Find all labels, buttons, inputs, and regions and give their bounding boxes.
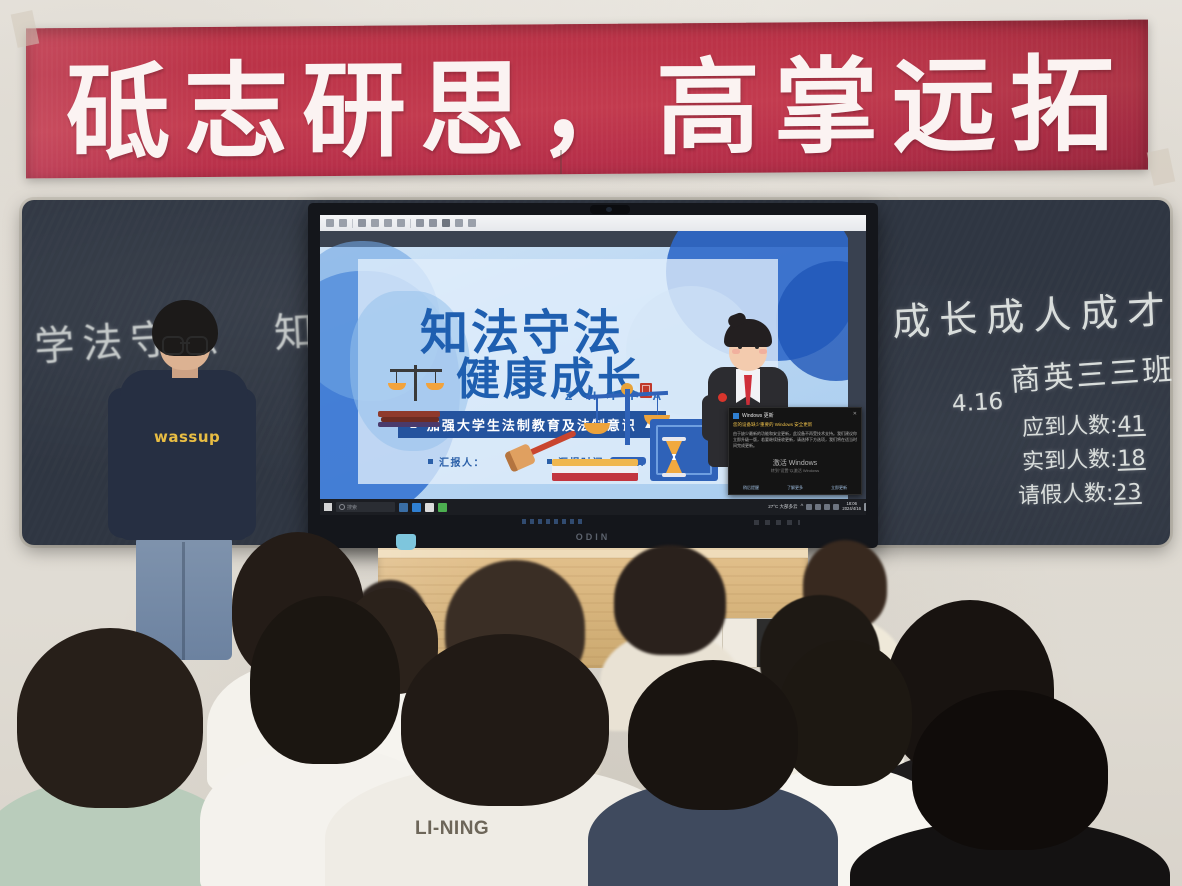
- layout-icon[interactable]: [429, 219, 437, 227]
- blackboard-attendance-leave: 请假人数:23: [1017, 474, 1141, 510]
- close-icon[interactable]: ✕: [853, 411, 857, 417]
- slide-footer-presenter: 汇报人：: [428, 454, 485, 469]
- task-view-icon[interactable]: [399, 503, 408, 512]
- student-front-4-head: [628, 660, 798, 810]
- attendance-actual-label: 实到人数:: [1022, 447, 1118, 475]
- windows-activate-text: 激活 Windows 转到"设置"以激活 Windows: [729, 458, 861, 474]
- lawyer-cheek-left: [732, 349, 740, 354]
- fit-icon[interactable]: [397, 219, 405, 227]
- cup-icon: [396, 534, 416, 550]
- display-camera-icon: [590, 205, 630, 214]
- windows-notification-header: Windows 更新: [733, 412, 857, 419]
- bullet-icon: [428, 459, 433, 464]
- blackboard-attendance-expected: 应到人数:41: [1021, 406, 1145, 442]
- windows-notification-buttons[interactable]: 稍后提醒 了解更多 立即更新: [729, 485, 861, 491]
- law-book-bottom: [552, 473, 638, 481]
- presentation-slide[interactable]: 知法守法 健康成长 Z H I F A ▲ 加强大学生法制教育及法制意识 ▲ 汇…: [320, 231, 866, 499]
- hourglass-sand: [666, 441, 682, 473]
- windows-notification-highlight: 您的设备缺少重要的 Windows 安全更新: [733, 422, 857, 429]
- wall-display[interactable]: 知法守法 健康成长 Z H I F A ▲ 加强大学生法制教育及法制意识 ▲ 汇…: [308, 203, 878, 548]
- lawyer-cheek-right: [759, 349, 767, 354]
- blackboard-date: 4.16: [951, 389, 1004, 418]
- lawyer-badge-icon: [718, 393, 727, 402]
- folder-icon[interactable]: [425, 503, 434, 512]
- learn-more-button[interactable]: 了解更多: [787, 485, 803, 491]
- presentation-toolbar[interactable]: [320, 215, 866, 231]
- law-book-mid: [552, 466, 638, 473]
- network-icon[interactable]: [806, 504, 812, 510]
- hourglass-icon: [662, 437, 686, 477]
- forward-icon[interactable]: [339, 219, 347, 227]
- close-icon[interactable]: [455, 219, 463, 227]
- windows-activate-sub: 转到"设置"以激活 Windows: [729, 468, 861, 474]
- law-books-icon: [378, 411, 440, 427]
- large-scales-pan-left: [584, 423, 610, 434]
- lawyer-hair: [724, 319, 772, 347]
- slide-footer-presenter-label: 汇报人：: [439, 454, 485, 469]
- attendance-actual-value: 18: [1117, 446, 1146, 472]
- glasses-lens-left: [162, 336, 184, 355]
- system-tray[interactable]: 27°C 大部多云 ^ 18:06 2024/4/16: [768, 502, 866, 512]
- update-now-button[interactable]: 立即更新: [831, 485, 847, 491]
- pen-icon[interactable]: [442, 219, 450, 227]
- volume-icon[interactable]: [815, 504, 821, 510]
- motivational-banner: 砥志研思，高掌远拓: [26, 20, 1148, 179]
- lining-brand-text: LI-NING: [415, 818, 489, 840]
- glasses-icon: [162, 336, 208, 351]
- scales-of-justice-icon: [388, 361, 444, 417]
- zoom-out-icon[interactable]: [371, 219, 379, 227]
- classroom-photo-scene: 砥志研思，高掌远拓 学法守法 知法 成长成人成才 商英三三班 4.16 应到人数…: [0, 0, 1182, 886]
- student-back-2-head: [614, 545, 726, 655]
- page-icon[interactable]: [416, 219, 424, 227]
- scales-pan-left: [388, 383, 406, 390]
- attendance-expected-label: 应到人数:: [1022, 413, 1118, 441]
- windows-logo-icon: [733, 413, 739, 419]
- display-led-strip: [522, 519, 582, 524]
- student-front-left: [0, 628, 220, 886]
- blackboard-attendance-actual: 实到人数:18: [1021, 440, 1145, 476]
- scales-pan-right: [426, 383, 444, 390]
- battery-icon[interactable]: [824, 504, 830, 510]
- attendance-leave-value: 23: [1113, 480, 1142, 506]
- book-3: [378, 422, 440, 427]
- windows-notification-title: Windows 更新: [742, 412, 774, 419]
- taskbar-clock[interactable]: 18:06 2024/4/16: [842, 502, 861, 512]
- attendance-expected-value: 41: [1117, 412, 1146, 438]
- large-scales-post: [625, 389, 630, 445]
- search-icon: [339, 504, 345, 510]
- zoom-in-icon[interactable]: [384, 219, 392, 227]
- windows-taskbar[interactable]: 搜索 27°C 大部多云 ^ 18:06 2024/4/16: [320, 499, 866, 515]
- toolbar-divider-2: [410, 219, 411, 228]
- toolbar-divider: [352, 219, 353, 228]
- banner-seam: [560, 150, 562, 174]
- windows-start-icon[interactable]: [324, 503, 332, 511]
- presenter-shirt-text: wassup: [154, 428, 220, 446]
- chevron-up-icon[interactable]: ^: [801, 504, 804, 510]
- lawyer-arm: [702, 395, 718, 441]
- student-front-5-head: [912, 690, 1108, 850]
- student-front-lining-head: [401, 634, 609, 806]
- wechat-icon[interactable]: [438, 503, 447, 512]
- search-placeholder: 搜索: [347, 504, 357, 511]
- display-screen[interactable]: 知法守法 健康成长 Z H I F A ▲ 加强大学生法制教育及法制意识 ▲ 汇…: [320, 215, 866, 515]
- clock-date: 2024/4/16: [842, 506, 861, 511]
- notification-icon[interactable]: [864, 503, 866, 511]
- display-buttons[interactable]: [754, 520, 800, 525]
- student-front-4: [608, 660, 818, 886]
- student-front-5: [860, 760, 1160, 886]
- remind-later-button[interactable]: 稍后提醒: [743, 485, 759, 491]
- ime-icon[interactable]: [833, 504, 839, 510]
- windows-notification-dialog[interactable]: Windows 更新 ✕ 您的设备缺少重要的 Windows 安全更新 由于缺少…: [728, 407, 862, 495]
- presenter-shirt: [120, 370, 248, 540]
- glasses-lens-right: [186, 336, 208, 355]
- more-icon[interactable]: [468, 219, 476, 227]
- large-scales-string-left: [596, 397, 598, 423]
- windows-notification-body: 由于缺少最新的功能和安全更新，此设备不再受技术支持。我们建议你立即升级一版，若要…: [733, 431, 857, 450]
- student-front-left-head: [17, 628, 203, 808]
- weather-text[interactable]: 27°C 大部多云: [768, 504, 797, 510]
- scales-post: [414, 365, 417, 401]
- back-icon[interactable]: [326, 219, 334, 227]
- windows-activate-main: 激活 Windows: [773, 460, 817, 467]
- edge-icon[interactable]: [412, 503, 421, 512]
- search-input[interactable]: 搜索: [336, 502, 395, 512]
- attendance-leave-label: 请假人数:: [1018, 481, 1114, 509]
- hourglass-cap-top: [662, 437, 686, 441]
- hourglass-cap-bottom: [662, 473, 686, 477]
- thumbnail-icon[interactable]: [358, 219, 366, 227]
- banner-text: 砥志研思，高掌远拓: [26, 20, 1158, 185]
